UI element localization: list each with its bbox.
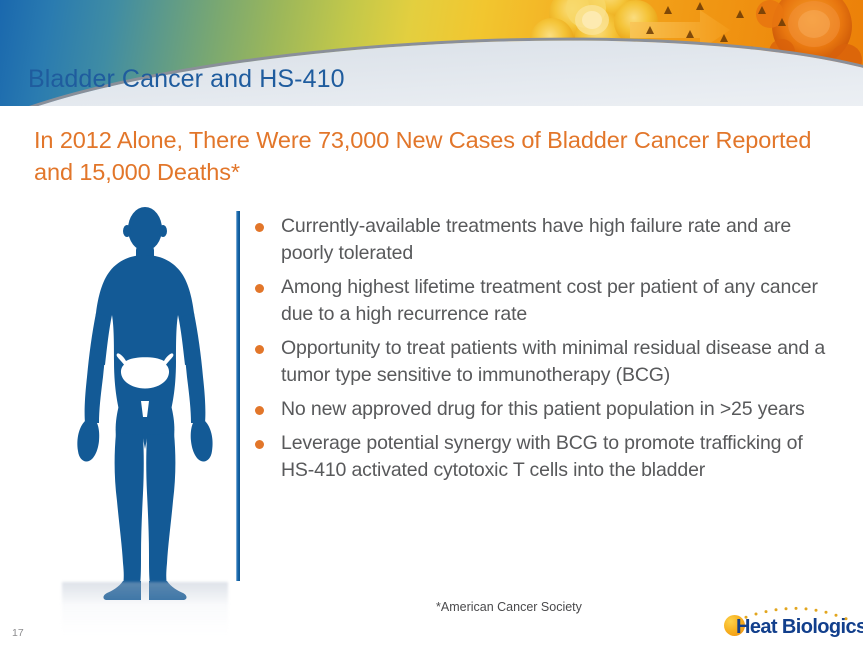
list-item: Among highest lifetime treatment cost pe… [255,274,840,328]
company-logo: Heat Biologics [722,604,857,644]
human-body-silhouette-icon [62,205,228,605]
bullet-dot-icon [255,406,264,415]
list-item-label: No new approved drug for this patient po… [281,396,840,423]
page-title: Bladder Cancer and HS-410 [28,65,345,94]
logo-wordmark: Heat Biologics [736,616,863,639]
list-item: Opportunity to treat patients with minim… [255,335,840,389]
list-item: No new approved drug for this patient po… [255,396,840,423]
bullet-dot-icon [255,440,264,449]
bullet-dot-icon [255,284,264,293]
bullet-list: Currently-available treatments have high… [255,213,840,491]
list-item: Currently-available treatments have high… [255,213,840,267]
list-item-label: Currently-available treatments have high… [281,213,840,267]
list-item-label: Opportunity to treat patients with minim… [281,335,840,389]
slide: Bladder Cancer and HS-410 In 2012 Alone,… [0,0,863,647]
list-item: Leverage potential synergy with BCG to p… [255,430,840,484]
slide-subtitle: In 2012 Alone, There Were 73,000 New Cas… [34,124,824,188]
page-number: 17 [12,627,24,639]
slide-header: Bladder Cancer and HS-410 [0,0,863,106]
bullet-dot-icon [255,345,264,354]
source-footnote: *American Cancer Society [436,600,582,614]
list-item-label: Leverage potential synergy with BCG to p… [281,430,840,484]
bullet-dot-icon [255,223,264,232]
figure-reflection [62,582,228,634]
vertical-divider [236,211,240,581]
list-item-label: Among highest lifetime treatment cost pe… [281,274,840,328]
